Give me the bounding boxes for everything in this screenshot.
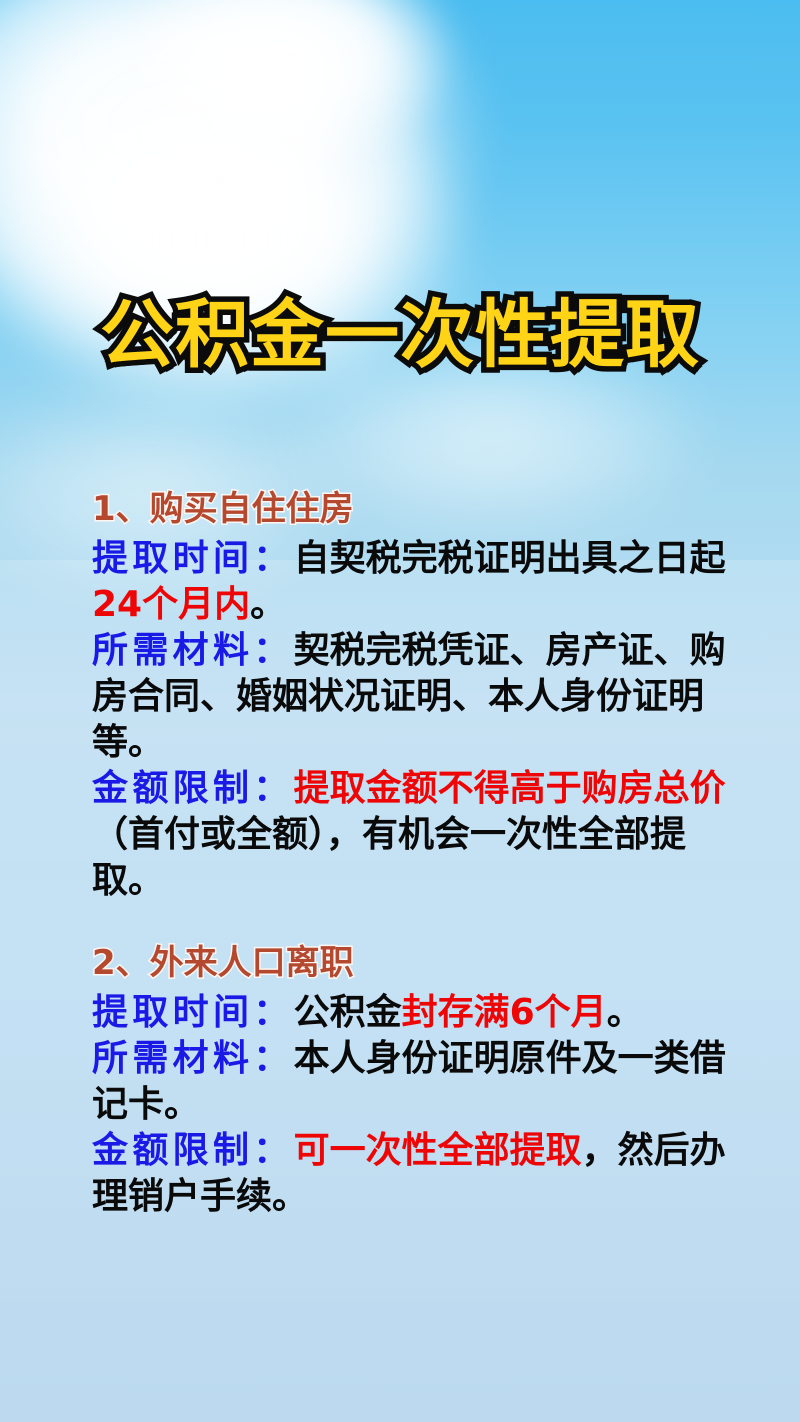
section-heading: 1、购买自住住房	[92, 486, 742, 532]
line-run-highlight: 封存满6个月	[402, 992, 607, 1033]
title-container: 公积金一次性提取	[0, 296, 800, 376]
line-run: 。	[250, 584, 286, 625]
line-run: 公积金	[294, 992, 402, 1033]
section-line: 所需材料：本人身份证明原件及一类借记卡。	[92, 1036, 742, 1128]
sections-container: 1、购买自住住房 提取时间：自契税完税证明出具之日起24个月内。 所需材料：契税…	[92, 486, 742, 1220]
section-block: 2、外来人口离职 提取时间：公积金封存满6个月。 所需材料：本人身份证明原件及一…	[92, 940, 742, 1220]
poster-content: 公积金一次性提取 1、购买自住住房 提取时间：自契税完税证明出具之日起24个月内…	[0, 0, 800, 1422]
section-line: 金额限制：可一次性全部提取，然后办理销户手续。	[92, 1128, 742, 1220]
line-run-highlight: 24个月内	[92, 584, 250, 625]
line-label: 所需材料：	[92, 1038, 294, 1079]
poster-root: 公积金一次性提取 1、购买自住住房 提取时间：自契税完税证明出具之日起24个月内…	[0, 0, 800, 1422]
page-title: 公积金一次性提取	[100, 296, 700, 376]
line-run-highlight: 可一次性全部提取	[294, 1130, 582, 1171]
line-label: 提取时间：	[92, 992, 294, 1033]
line-run: （首付或全额），有机会一次性全部提取。	[92, 814, 686, 901]
line-run: 。	[607, 992, 643, 1033]
section-heading: 2、外来人口离职	[92, 940, 742, 986]
section-line: 提取时间：公积金封存满6个月。	[92, 990, 742, 1036]
line-run-highlight: 提取金额不得高于购房总价	[294, 768, 726, 809]
line-label: 金额限制：	[92, 1130, 294, 1171]
section-line: 所需材料：契税完税凭证、房产证、购房合同、婚姻状况证明、本人身份证明等。	[92, 628, 742, 766]
section-line: 金额限制：提取金额不得高于购房总价（首付或全额），有机会一次性全部提取。	[92, 766, 742, 904]
line-label: 所需材料：	[92, 630, 294, 671]
line-label: 金额限制：	[92, 768, 294, 809]
line-run: 自契税完税证明出具之日起	[294, 538, 726, 579]
section-block: 1、购买自住住房 提取时间：自契税完税证明出具之日起24个月内。 所需材料：契税…	[92, 486, 742, 904]
line-label: 提取时间：	[92, 538, 294, 579]
section-line: 提取时间：自契税完税证明出具之日起24个月内。	[92, 536, 742, 628]
